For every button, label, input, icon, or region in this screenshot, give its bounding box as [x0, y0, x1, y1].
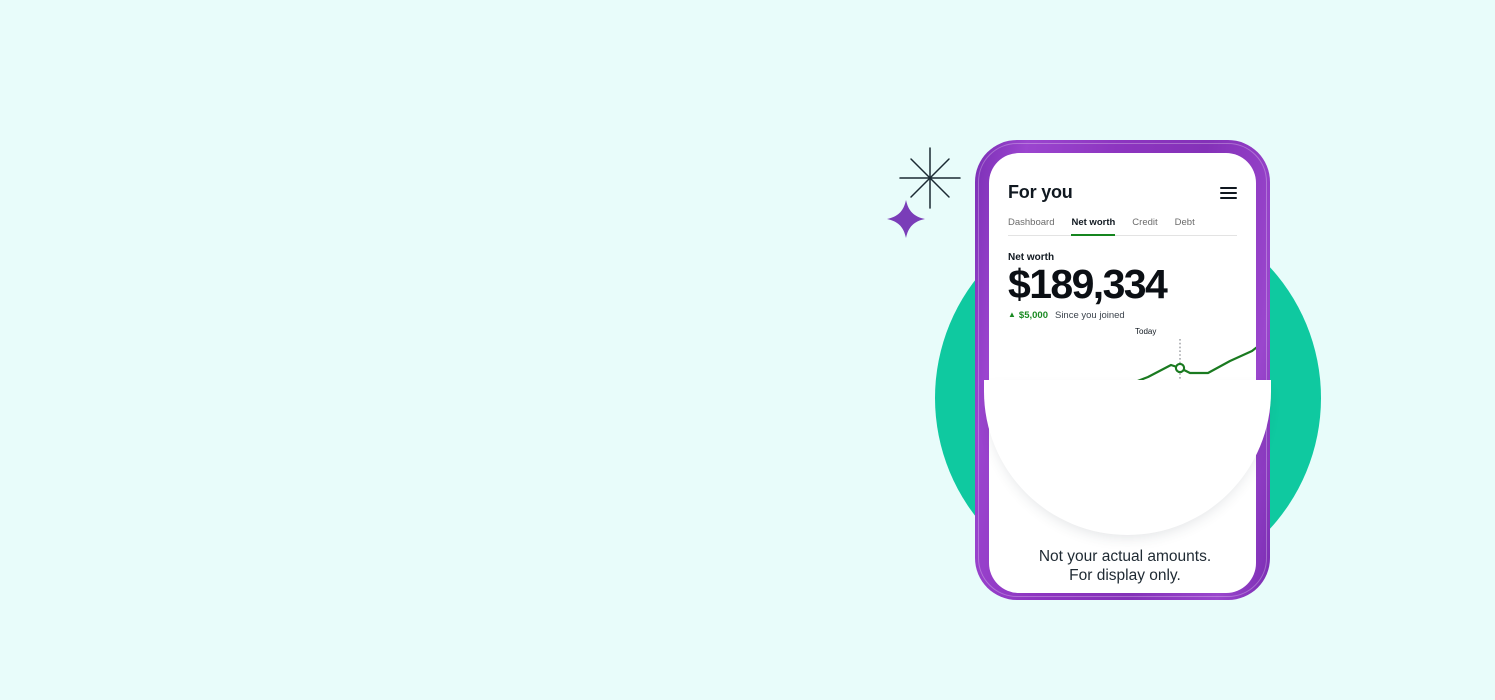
tab-bar: Dashboard Net worth Credit Debt [1008, 216, 1237, 236]
disclaimer-line-2: For display only. [1010, 567, 1240, 586]
net-worth-change-value: $5,000 [1019, 310, 1048, 321]
tab-credit[interactable]: Credit [1132, 217, 1157, 236]
four-point-sparkle-icon [886, 199, 926, 239]
disclaimer-line-1: Not your actual amounts. [1010, 548, 1240, 567]
today-annotation-label: Today [1135, 327, 1156, 336]
trend-up-arrow-icon: ▲ [1008, 311, 1016, 319]
today-data-point-marker [1176, 364, 1184, 372]
hamburger-menu-icon[interactable] [1220, 187, 1237, 199]
promo-composition: For you Dashboard Net worth Credit Debt … [0, 0, 1495, 700]
disclaimer-caption: Not your actual amounts. For display onl… [1010, 548, 1240, 586]
page-title: For you [1008, 182, 1073, 203]
tab-dashboard[interactable]: Dashboard [1008, 217, 1054, 236]
net-worth-change-note: Since you joined [1055, 310, 1125, 321]
app-titlebar: For you [1008, 153, 1237, 203]
net-worth-change-row: ▲ $5,000 Since you joined [1008, 310, 1237, 321]
tab-debt[interactable]: Debt [1175, 217, 1195, 236]
net-worth-amount: $189,334 [1008, 264, 1237, 306]
tab-net-worth[interactable]: Net worth [1071, 217, 1115, 236]
